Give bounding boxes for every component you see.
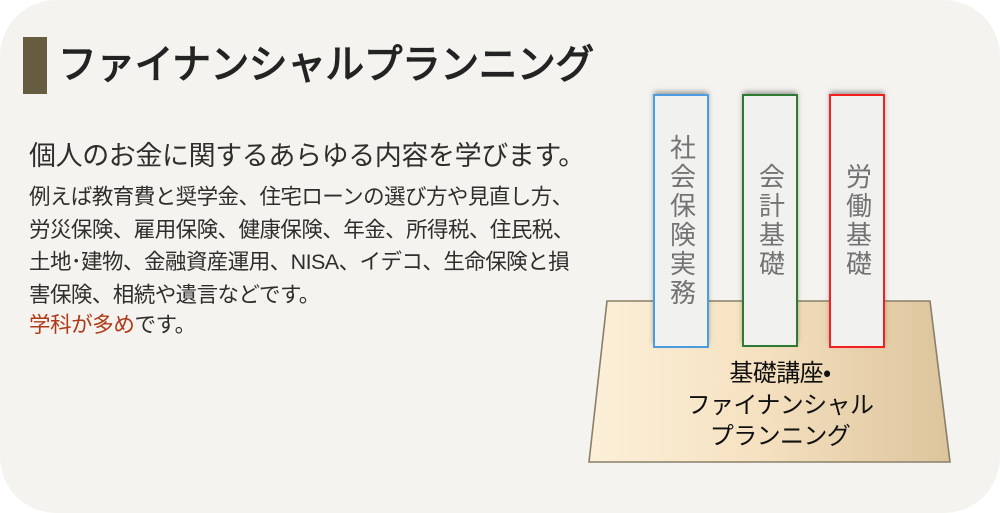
body-line: 労災保険、雇用保険、健康保険、年金、所得税、住民税、 xyxy=(29,214,577,247)
body-paragraph: 例えば教育費と奨学金、住宅ローンの選び方や見直し方、 労災保険、雇用保険、健康保… xyxy=(29,181,577,312)
pillar-labor-basics[interactable]: 労働基礎 xyxy=(829,94,885,348)
pillar-social-insurance[interactable]: 社会保険実務 xyxy=(653,94,709,348)
note-highlight: 学科が多め xyxy=(29,313,135,337)
note-line: 学科が多めです。 xyxy=(29,308,196,339)
body-line: 例えば教育費と奨学金、住宅ローンの選び方や見直し方、 xyxy=(29,181,577,214)
note-rest: です。 xyxy=(135,313,196,337)
pillar-label: 社会保険実務 xyxy=(663,134,700,308)
title-accent-bar xyxy=(23,37,47,94)
pillar-accounting-basics[interactable]: 会計基礎 xyxy=(742,94,798,347)
pillar-label: 会計基礎 xyxy=(752,163,789,279)
lead-paragraph: 個人のお金に関するあらゆる内容を学びます。 xyxy=(29,134,585,173)
page-title-row: ファイナンシャルプランニング xyxy=(23,36,610,94)
text-column: ファイナンシャルプランニング 個人のお金に関するあらゆる内容を学びます。 例えば… xyxy=(0,0,600,513)
course-structure-diagram: 基礎講座・ ファイナンシャル プランニング 社会保険実務 会計基礎 労働基礎 xyxy=(560,0,1000,513)
content-card: ファイナンシャルプランニング 個人のお金に関するあらゆる内容を学びます。 例えば… xyxy=(0,0,1000,513)
page-title: ファイナンシャルプランニング xyxy=(58,45,594,85)
pillar-label: 労働基礎 xyxy=(839,163,876,279)
body-line: 土地･建物、金融資産運用、NISA、イデコ、生命保険と損 xyxy=(29,246,577,279)
body-line: 害保険、相続や遺言などです。 xyxy=(29,279,577,312)
